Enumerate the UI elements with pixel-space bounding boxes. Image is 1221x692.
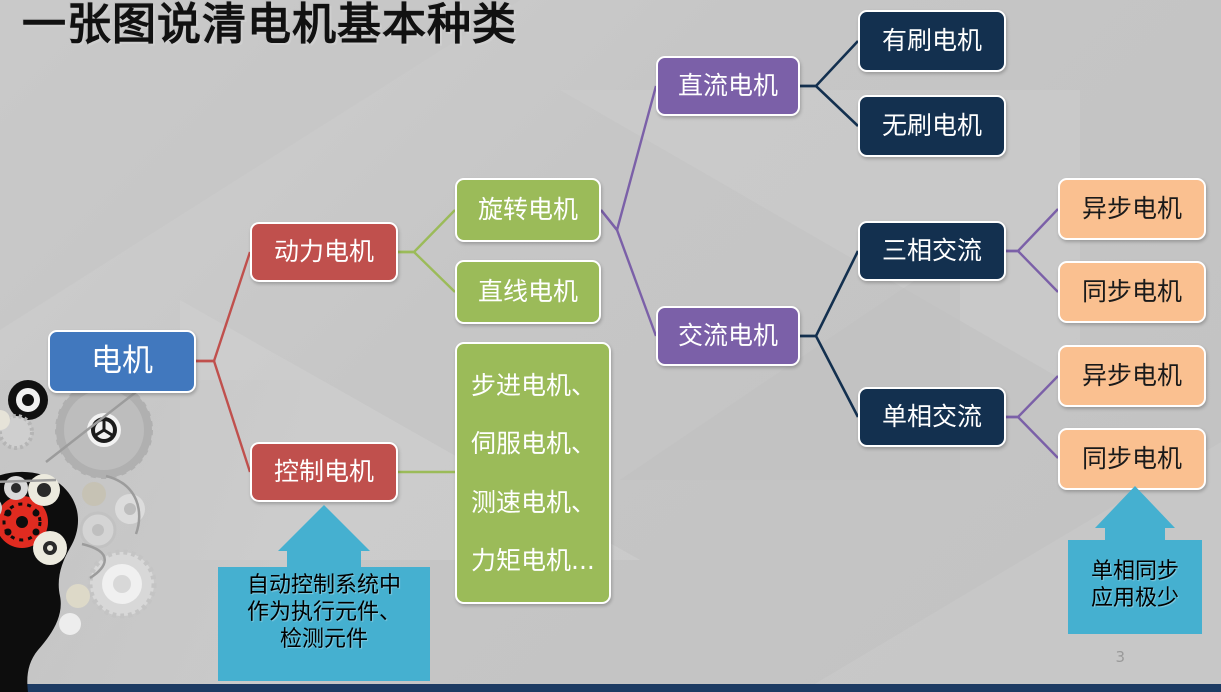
up-arrow-icon <box>1095 486 1175 528</box>
node-control-motor[interactable]: 控制电机 <box>250 442 398 502</box>
node-power-motor[interactable]: 动力电机 <box>250 222 398 282</box>
node-three-phase-ac[interactable]: 三相交流 <box>858 221 1006 281</box>
callout-line: 作为执行元件、 <box>226 600 422 627</box>
slide-title: 一张图说清电机基本种类 <box>22 0 517 52</box>
node-three-phase-sync[interactable]: 同步电机 <box>1058 261 1206 323</box>
callout-single-phase-sync-note[interactable]: 单相同步 应用极少 <box>1068 486 1202 634</box>
callout-single-text: 单相同步 应用极少 <box>1068 540 1202 634</box>
callout-line: 单相同步 <box>1076 559 1194 586</box>
control-type-line: 步进电机、 <box>471 372 596 400</box>
callout-control-motor-note[interactable]: 自动控制系统中 作为执行元件、 检测元件 <box>218 505 430 681</box>
node-single-phase-sync[interactable]: 同步电机 <box>1058 428 1206 490</box>
up-arrow-icon <box>278 505 370 551</box>
callout-line: 应用极少 <box>1076 586 1194 613</box>
node-three-phase-async[interactable]: 异步电机 <box>1058 178 1206 240</box>
callout-line: 检测元件 <box>226 627 422 654</box>
arrow-stem <box>1105 528 1165 540</box>
node-control-motor-types[interactable]: 步进电机、 伺服电机、 测速电机、 力矩电机... <box>455 342 611 604</box>
control-type-line: 力矩电机... <box>471 547 595 575</box>
node-single-phase-ac[interactable]: 单相交流 <box>858 387 1006 447</box>
control-type-line: 伺服电机、 <box>471 430 596 458</box>
node-brushless-motor[interactable]: 无刷电机 <box>858 95 1006 157</box>
node-motor-root[interactable]: 电机 <box>48 330 196 393</box>
page-number: 3 <box>1115 648 1125 666</box>
slide-canvas: 一张图说清电机基本种类 电机 动力电机 控制电机 旋转电机 直线电机 步进电机、… <box>0 0 1221 692</box>
node-linear-motor[interactable]: 直线电机 <box>455 260 601 324</box>
callout-line: 自动控制系统中 <box>226 573 422 600</box>
callout-control-text: 自动控制系统中 作为执行元件、 检测元件 <box>218 567 430 681</box>
node-rotary-motor[interactable]: 旋转电机 <box>455 178 601 242</box>
node-ac-motor[interactable]: 交流电机 <box>656 306 800 366</box>
node-brushed-motor[interactable]: 有刷电机 <box>858 10 1006 72</box>
node-single-phase-async[interactable]: 异步电机 <box>1058 345 1206 407</box>
arrow-stem <box>287 551 361 567</box>
node-dc-motor[interactable]: 直流电机 <box>656 56 800 116</box>
control-type-line: 测速电机、 <box>471 489 596 517</box>
